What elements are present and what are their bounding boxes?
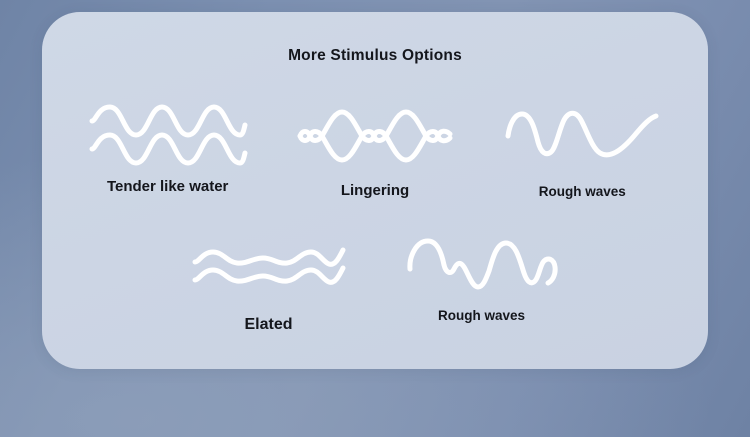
option-label: Rough waves	[438, 308, 525, 323]
option-rough-waves-2[interactable]: Rough waves	[375, 230, 588, 334]
descending-frequency-wave-icon	[492, 100, 672, 172]
options-row-1: Tender like water Lingering Rough w	[42, 100, 708, 199]
option-label: Lingering	[341, 182, 409, 199]
double-ripple-wave-icon	[179, 230, 359, 302]
option-label: Tender like water	[107, 178, 228, 195]
stimulus-options-panel: More Stimulus Options Tender like water	[42, 12, 708, 369]
option-rough-waves-1[interactable]: Rough waves	[479, 100, 686, 199]
option-lingering[interactable]: Lingering	[271, 100, 478, 199]
screen: More Stimulus Options Tender like water	[0, 0, 750, 437]
double-sine-wave-icon	[78, 100, 258, 170]
options-row-2: Elated Rough waves	[42, 230, 708, 334]
option-elated[interactable]: Elated	[162, 230, 375, 334]
beat-envelope-wave-icon	[285, 100, 465, 172]
page-title: More Stimulus Options	[42, 47, 708, 65]
option-tender-like-water[interactable]: Tender like water	[64, 100, 271, 199]
irregular-jagged-wave-icon	[392, 230, 572, 302]
option-label: Elated	[244, 316, 292, 334]
option-label: Rough waves	[539, 184, 626, 199]
